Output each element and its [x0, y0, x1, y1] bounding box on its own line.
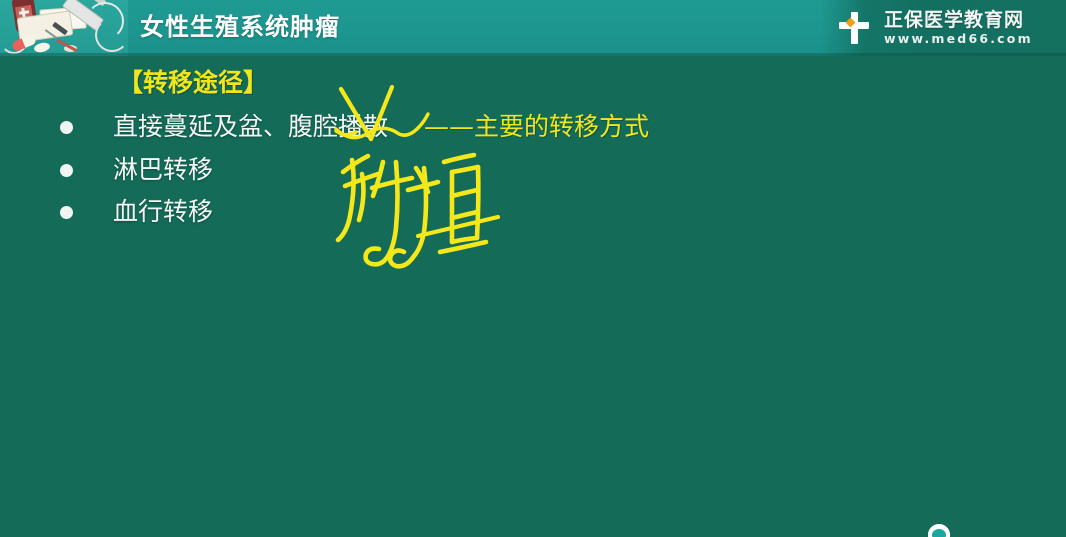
list-item: 直接蔓延及盆、腹腔播散: [52, 108, 388, 146]
handwritten-char-zhong: [338, 156, 412, 264]
bullet-dot-icon: [60, 206, 73, 219]
list-item-label: 血行转移: [113, 193, 213, 231]
page-title: 女性生殖系统肿瘤: [140, 10, 340, 44]
handwriting-underline-stroke: [418, 217, 498, 236]
emphasis-note: ——主要的转移方式: [424, 108, 649, 146]
player-control-inner: [932, 529, 946, 537]
tablet-pill-icon: [33, 41, 51, 53]
list-item: 血行转移: [52, 193, 213, 231]
list-item-label: 淋巴转移: [113, 151, 213, 189]
slide-header-bar: 女性生殖系统肿瘤 正保医学教育网 www.med66.com: [0, 0, 1066, 56]
lecture-slide: 女性生殖系统肿瘤 正保医学教育网 www.med66.com 【转移途径】 直接…: [0, 0, 1066, 537]
handwritten-char-zhi: [390, 155, 486, 266]
list-item: 淋巴转移: [52, 151, 213, 189]
list-item-label: 直接蔓延及盆、腹腔播散: [113, 108, 388, 146]
bullet-dot-icon: [60, 164, 73, 177]
bullet-dot-icon: [60, 121, 73, 134]
brand-name: 正保医学教育网: [884, 9, 1033, 31]
brand-text-block: 正保医学教育网 www.med66.com: [884, 9, 1033, 47]
underline-wave-d: [396, 128, 418, 135]
cross-medical-logo-icon: [834, 8, 874, 48]
brand-url: www.med66.com: [884, 31, 1033, 47]
slide-content-area: 【转移途径】 直接蔓延及盆、腹腔播散 淋巴转移 血行转移 ——主要的转移方式: [0, 56, 1066, 537]
medical-supplies-illustration: [0, 0, 128, 56]
section-heading: 【转移途径】: [118, 66, 268, 100]
tubing-loop-lower-icon: [95, 18, 128, 52]
brand-block: 正保医学教育网 www.med66.com: [820, 0, 1066, 56]
